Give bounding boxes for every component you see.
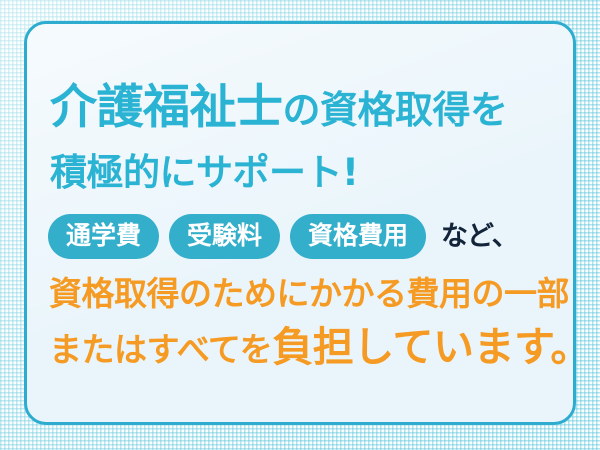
- rounded-frame-card: 介護福祉士の資格取得を 積極的にサポート! 通学費 受験料 資格費用 など、 資…: [24, 21, 576, 425]
- body-line-2-lead: またはすべてを: [49, 330, 272, 369]
- banner-content: 介護福祉士の資格取得を 積極的にサポート! 通学費 受験料 資格費用 など、 資…: [27, 24, 579, 428]
- cost-pill-row: 通学費 受験料 資格費用 など、: [48, 214, 518, 259]
- body-line-1: 資格取得のためにかかる費用の一部: [49, 277, 569, 310]
- promo-banner: 介護福祉士の資格取得を 積極的にサポート! 通学費 受験料 資格費用 など、 資…: [0, 0, 600, 450]
- headline: 介護福祉士の資格取得を: [50, 84, 508, 131]
- pill-row-suffix: など、: [441, 223, 518, 250]
- body-line-2-emphasis: 負担しています。: [272, 323, 591, 371]
- body-line-2: またはすべてを負担しています。: [49, 327, 591, 368]
- subheadline: 積極的にサポート!: [50, 154, 358, 191]
- headline-emphasis: 介護福祉士: [50, 80, 283, 135]
- pill-exam-fee: 受験料: [169, 214, 280, 259]
- pill-tuition-fee: 通学費: [48, 214, 159, 259]
- headline-rest: の資格取得を: [283, 88, 508, 132]
- pill-certification-fee: 資格費用: [290, 214, 426, 259]
